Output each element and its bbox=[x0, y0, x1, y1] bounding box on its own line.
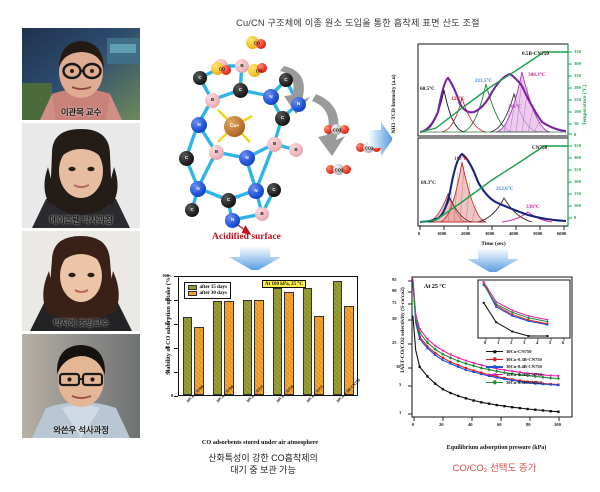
arrow-down-icon bbox=[228, 246, 282, 272]
tpd-peak-label: 60.5°C bbox=[420, 86, 435, 92]
atom-C: C bbox=[233, 83, 248, 98]
tpd-plot-svg bbox=[392, 42, 595, 247]
researcher-photo-0: 이관목 교수 bbox=[22, 28, 140, 120]
atom-C: C bbox=[221, 193, 236, 208]
data-marker bbox=[472, 364, 475, 367]
portrait-park bbox=[22, 231, 140, 331]
legend-label: after 30 days bbox=[200, 291, 227, 296]
data-marker bbox=[557, 377, 560, 380]
legend-swatch-after30 bbox=[188, 291, 197, 296]
iso-legend-line bbox=[486, 374, 503, 375]
iso-legend-line bbox=[486, 359, 503, 360]
bar-xlabel: CO adsorbents stored under air atmospher… bbox=[150, 439, 370, 446]
atom-B: B bbox=[289, 143, 303, 157]
left-conclusion-caption: 산화특성이 강한 CO흡착제의 대기 중 보관 가능 bbox=[148, 452, 378, 476]
legend-item: after 30 days bbox=[188, 291, 227, 296]
caption-line-2: 대기 중 보관 가능 bbox=[148, 464, 378, 476]
data-marker bbox=[464, 362, 467, 365]
data-marker bbox=[549, 376, 552, 379]
iso-legend-line bbox=[486, 366, 503, 367]
bar-legend: after 15 days after 30 days bbox=[184, 282, 231, 299]
atom-C: C bbox=[185, 203, 199, 217]
iso-legend-label: 30Cu-0.6B-CN750 bbox=[506, 380, 542, 385]
iso-temperature-annotation: At 25 °C bbox=[424, 284, 446, 290]
tpd-peak-label: 211.5°C bbox=[475, 78, 492, 84]
data-marker bbox=[465, 397, 467, 399]
data-marker bbox=[426, 375, 428, 377]
tpd-sample-label-1: CN750 bbox=[532, 145, 547, 151]
atom-N: N bbox=[191, 117, 207, 133]
legend-item: after 15 days bbox=[188, 285, 227, 290]
co2-molecule: CO2 bbox=[324, 124, 350, 135]
researcher-photo-column: 이관목 교수 메이즈웬 박사과정 bbox=[22, 28, 140, 441]
iso-legend-item: 30Cu-CN750 bbox=[486, 348, 542, 356]
nh3-tpd-chart: NH3 -TCD Intensity (a.u) Temperature (°C… bbox=[392, 42, 595, 247]
data-marker bbox=[527, 335, 529, 337]
data-marker bbox=[449, 392, 451, 394]
poster-root: Cu/CN 구조체에 이종 원소 도입을 통한 흡착제 표면 산도 조절 bbox=[0, 0, 600, 492]
data-marker bbox=[519, 407, 521, 409]
tpd-peak-label: 266°C bbox=[508, 104, 522, 110]
co2-molecule: CO2 bbox=[326, 164, 352, 175]
data-marker bbox=[534, 409, 536, 411]
atom-C: C bbox=[179, 151, 194, 166]
photo-caption: 메이즈웬 박사과정 bbox=[22, 214, 140, 226]
photo-caption: 와쓴우 석사과정 bbox=[22, 424, 140, 436]
iso-legend-item: 30Cu-0.3B-CN750 bbox=[486, 356, 542, 364]
photo-caption: 박지혜 초빙교수 bbox=[22, 317, 140, 329]
atom-C: C bbox=[279, 73, 293, 87]
legend-label: after 15 days bbox=[200, 285, 227, 290]
iso-legend: 30Cu-CN75030Cu-0.3B-CN75030Cu-0.4B-CN750… bbox=[486, 348, 542, 386]
data-marker bbox=[511, 406, 513, 408]
data-marker bbox=[546, 335, 548, 337]
tpd-sample-label-0: 0.5B-CN750 bbox=[522, 51, 549, 57]
atom-N: N bbox=[190, 181, 206, 197]
data-marker bbox=[483, 302, 485, 304]
data-marker bbox=[526, 408, 528, 410]
bar-after15 bbox=[243, 300, 253, 395]
stability-bar-chart: Stability of CO adsorption uptake (%) CO… bbox=[150, 270, 370, 445]
right-conclusion-caption: CO/CO₂ 선택도 증가 bbox=[392, 460, 597, 474]
bar-after15 bbox=[333, 281, 343, 395]
atom-C: C bbox=[267, 183, 281, 197]
bar-after15 bbox=[273, 288, 283, 395]
tpd-peak-label: 300.3°C bbox=[528, 72, 546, 78]
iso-legend-item: 30Cu-0.6B-CN750 bbox=[486, 378, 542, 386]
iso-legend-label: 30Cu-0.5B-CN750 bbox=[506, 372, 542, 377]
legend-swatch-after15 bbox=[188, 285, 197, 290]
bar-after30 bbox=[224, 301, 234, 395]
iso-legend-item: 30Cu-0.4B-CN750 bbox=[486, 363, 542, 371]
data-marker bbox=[457, 395, 459, 397]
page-title: Cu/CN 구조체에 이종 원소 도입을 통한 흡착제 표면 산도 조절 bbox=[148, 15, 568, 29]
data-marker bbox=[503, 405, 505, 407]
data-marker bbox=[542, 409, 544, 411]
atom-B: B bbox=[205, 93, 220, 108]
tpd-xlabel: Time (sec) bbox=[392, 241, 595, 247]
data-marker bbox=[495, 321, 497, 323]
researcher-photo-3: 와쓴우 석사과정 bbox=[22, 334, 140, 438]
tpd-ylabel-right: Temperature (°C) bbox=[582, 65, 588, 145]
data-marker bbox=[511, 331, 513, 333]
atom-B: B bbox=[209, 145, 224, 160]
data-marker bbox=[419, 366, 421, 368]
down-arrow-left bbox=[228, 246, 282, 272]
caption-line-1: 산화특성이 강한 CO흡착제의 bbox=[148, 452, 378, 464]
atom-N: N bbox=[225, 213, 240, 228]
atom-B: B bbox=[267, 137, 282, 152]
co-molecule: CO bbox=[248, 64, 270, 77]
tpd-peak-label: 125°C bbox=[451, 96, 465, 102]
researcher-photo-1: 메이즈웬 박사과정 bbox=[22, 123, 140, 228]
atom-Cu: Cu+ bbox=[224, 116, 245, 137]
co-molecule: CO bbox=[246, 36, 268, 49]
selectivity-chart: IAST-CO/CO2 selectivity (S-co/co2) Equil… bbox=[390, 272, 595, 450]
bar-after30 bbox=[314, 316, 324, 395]
data-marker bbox=[480, 366, 483, 369]
co-molecule: CO bbox=[211, 62, 233, 75]
data-marker bbox=[434, 382, 436, 384]
molecular-scheme: N B C N C B N B C N C N C B C N B C N B … bbox=[178, 38, 393, 238]
iso-legend-item: 30Cu-0.5B-CN750 bbox=[486, 371, 542, 379]
iso-legend-label: 30Cu-0.4B-CN750 bbox=[506, 364, 542, 369]
atom-N: N bbox=[291, 97, 306, 112]
portrait-mei bbox=[22, 123, 140, 228]
atom-B: B bbox=[255, 207, 269, 221]
tpd-peak-label: 110°C bbox=[454, 156, 467, 162]
tpd-ylabel: NH3 -TCD Intensity (a.u) bbox=[391, 64, 397, 144]
atom-N: N bbox=[239, 150, 255, 166]
researcher-photo-2: 박지혜 초빙교수 bbox=[22, 231, 140, 331]
bar-condition-annotation: At 100 kPa, 25 °C bbox=[262, 280, 306, 288]
photo-caption: 이관목 교수 bbox=[22, 106, 140, 118]
portrait-wha bbox=[22, 334, 140, 438]
data-marker bbox=[480, 401, 482, 403]
data-marker bbox=[549, 410, 551, 412]
iso-legend-label: 30Cu-CN750 bbox=[506, 349, 532, 354]
bar-after15 bbox=[303, 288, 313, 395]
data-marker bbox=[472, 399, 474, 401]
iso-legend-line bbox=[486, 351, 503, 352]
atom-C: C bbox=[193, 71, 207, 85]
iso-xlabel: Equilibrium adsorption pressure (kPa) bbox=[398, 445, 595, 451]
iso-legend-line bbox=[486, 382, 503, 383]
bar-after30 bbox=[254, 300, 264, 395]
bar-after15 bbox=[213, 301, 223, 395]
bar-after30 bbox=[284, 292, 294, 395]
data-marker bbox=[457, 359, 460, 362]
bar-after15 bbox=[183, 317, 193, 395]
data-marker bbox=[496, 404, 498, 406]
tpd-peak-label: 69.3°C bbox=[421, 180, 436, 186]
atom-B: B bbox=[235, 59, 249, 73]
tpd-peak-label: 330°C bbox=[526, 204, 540, 210]
iso-legend-label: 30Cu-0.3B-CN750 bbox=[506, 357, 542, 362]
data-marker bbox=[442, 388, 444, 390]
tpd-peak-label: 212.6°C bbox=[496, 186, 514, 192]
atom-C: C bbox=[275, 111, 290, 126]
atom-N: N bbox=[248, 183, 264, 199]
data-marker bbox=[488, 402, 490, 404]
data-marker bbox=[557, 411, 559, 413]
atom-N: N bbox=[263, 89, 279, 105]
acidified-surface-label: Acidified surface bbox=[212, 232, 281, 242]
